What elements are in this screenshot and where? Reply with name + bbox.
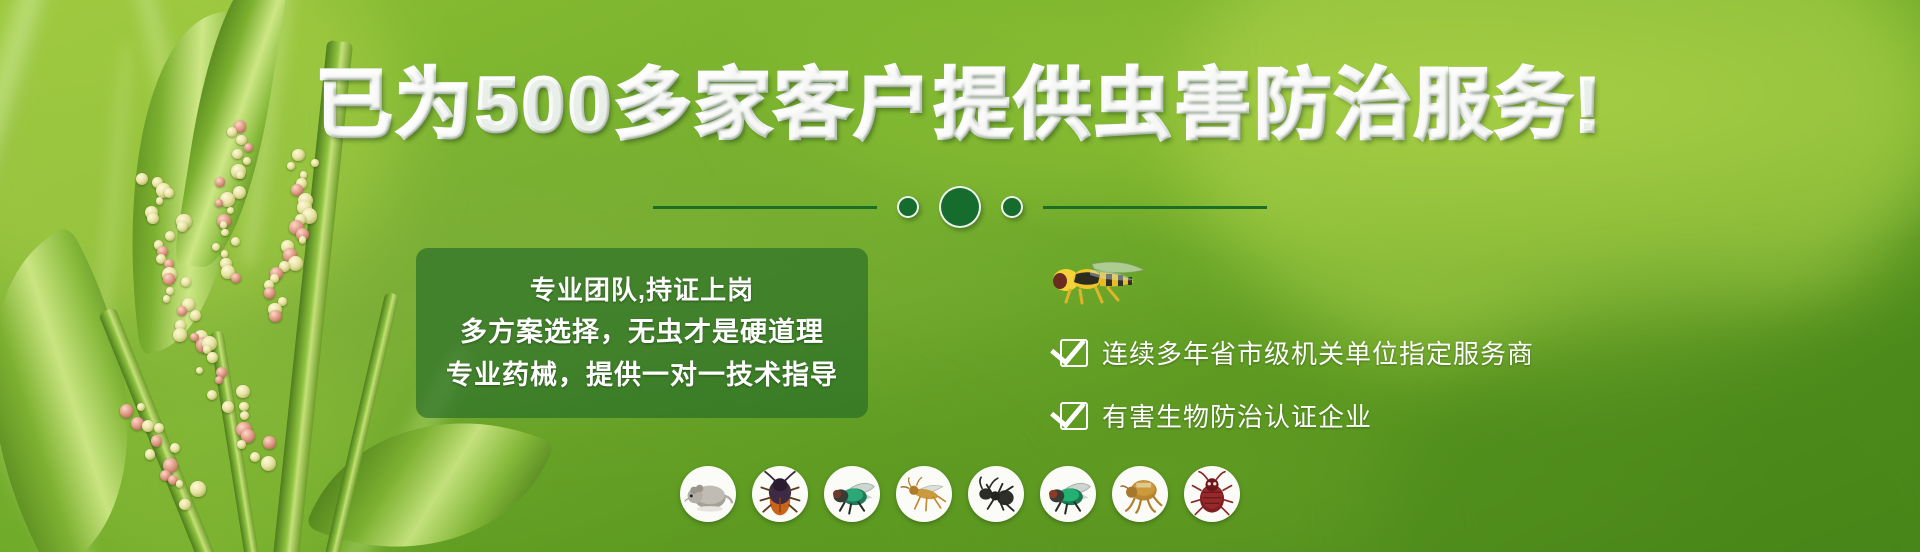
- decorative-dot-large: [939, 186, 981, 228]
- pest-type-icon-row: [680, 466, 1240, 522]
- pollen-bud: [263, 436, 275, 448]
- panel-line-2: 多方案选择，无虫才是硬道理: [460, 318, 824, 346]
- pollen-bud: [207, 352, 218, 363]
- flea-icon[interactable]: [1112, 466, 1168, 522]
- service-highlights-panel: 专业团队,持证上岗 多方案选择，无虫才是硬道理 专业药械，提供一对一技术指导: [416, 248, 868, 418]
- checkbox-checked-icon: [1060, 402, 1088, 430]
- pollen-bud: [190, 481, 206, 497]
- pollen-bud: [236, 385, 250, 399]
- hoverfly-icon: [1040, 250, 1160, 310]
- pollen-bud: [177, 306, 187, 316]
- pest-control-hero-banner: 已为500多家客户提供虫害防治服务! 专业团队,持证上岗 多方案选择，无虫才是硬…: [0, 0, 1920, 552]
- banner-headline: 已为500多家客户提供虫害防治服务!: [0, 68, 1920, 144]
- blowfly-icon[interactable]: [824, 466, 880, 522]
- pollen-bud: [120, 404, 133, 417]
- checklist-item: 连续多年省市级机关单位指定服务商: [1060, 334, 1534, 371]
- bedbug-icon[interactable]: [1184, 466, 1240, 522]
- ant-icon[interactable]: [968, 466, 1024, 522]
- checklist-item: 有害生物防治认证企业: [1060, 397, 1534, 434]
- pollen-bud: [190, 310, 201, 321]
- pollen-bud: [231, 237, 241, 247]
- decorative-dot-small: [897, 196, 919, 218]
- greenfly-icon[interactable]: [1040, 466, 1096, 522]
- pollen-bud: [145, 449, 155, 459]
- divider-line-right: [1043, 206, 1267, 209]
- credentials-checklist: 连续多年省市级机关单位指定服务商 有害生物防治认证企业: [1060, 334, 1534, 434]
- pollen-bud: [288, 256, 303, 271]
- pollen-bud: [163, 273, 174, 284]
- pollen-bud: [292, 149, 305, 162]
- pollen-bud: [311, 159, 319, 167]
- rodent-icon[interactable]: [680, 466, 736, 522]
- pollen-bud: [240, 411, 249, 420]
- pollen-bud: [231, 273, 241, 283]
- pollen-bud: [221, 229, 229, 237]
- pollen-bud: [243, 157, 251, 165]
- pollen-bud: [236, 171, 244, 179]
- banner-headline-text: 已为500多家客户提供虫害防治服务!: [316, 63, 1604, 148]
- pollen-bud: [287, 162, 295, 170]
- cockroach-icon[interactable]: [752, 466, 808, 522]
- panel-line-3: 专业药械，提供一对一技术指导: [446, 361, 838, 389]
- pollen-bud: [237, 440, 246, 449]
- pollen-bud: [232, 149, 242, 159]
- checkbox-checked-icon: [1060, 339, 1088, 367]
- mosquito-icon[interactable]: [896, 466, 952, 522]
- pollen-bud: [261, 456, 276, 471]
- pollen-bud: [170, 443, 180, 453]
- pollen-bud: [173, 328, 187, 342]
- checklist-item-label: 有害生物防治认证企业: [1102, 397, 1372, 434]
- pollen-bud: [250, 452, 260, 462]
- pollen-bud: [269, 310, 281, 322]
- pollen-bud: [151, 435, 163, 447]
- pollen-bud: [207, 390, 218, 401]
- plant-stem: [209, 330, 260, 552]
- pollen-bud: [239, 402, 248, 411]
- divider-line-left: [653, 206, 877, 209]
- pollen-bud: [222, 401, 234, 413]
- pollen-bud: [196, 367, 203, 374]
- checklist-item-label: 连续多年省市级机关单位指定服务商: [1102, 334, 1534, 371]
- pollen-bud: [299, 236, 307, 244]
- pollen-bud: [244, 143, 253, 152]
- pollen-bud: [136, 173, 148, 185]
- pollen-bud: [264, 287, 276, 299]
- pollen-bud: [176, 480, 183, 487]
- decorative-divider: [0, 186, 1920, 228]
- panel-line-1: 专业团队,持证上岗: [530, 277, 754, 304]
- pollen-bud: [163, 295, 171, 303]
- decorative-dot-small: [1001, 196, 1023, 218]
